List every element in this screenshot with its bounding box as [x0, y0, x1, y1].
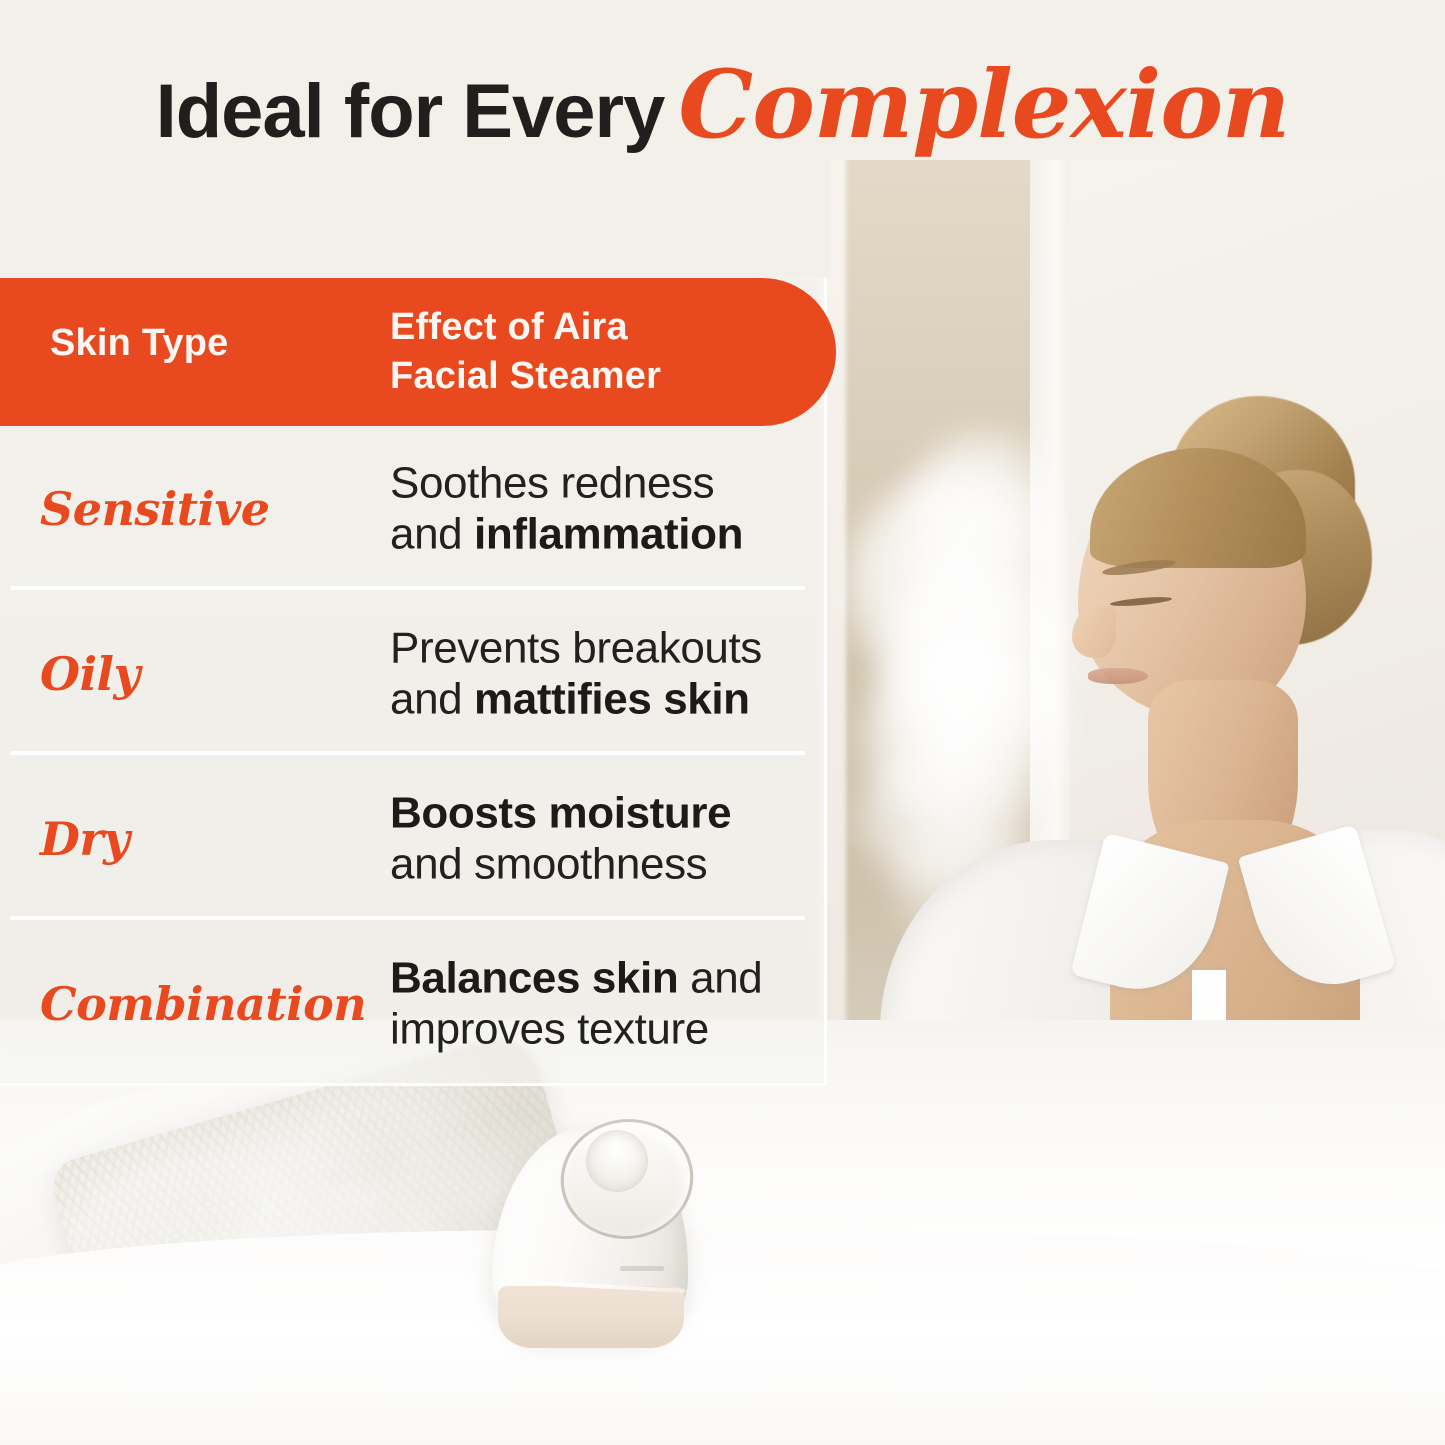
table-row: Sensitive Soothes redness and inflammati… [0, 426, 827, 591]
effect-line2: and smoothness [390, 840, 707, 889]
effect-line2-bold: mattifies skin [474, 675, 750, 724]
page-title: Ideal for EveryComplexion [0, 58, 1445, 152]
table-row: Dry Boosts moisture and smoothness [0, 756, 827, 921]
row-effect-text: Prevents breakouts and mattifies skin [390, 622, 810, 725]
effect-line2-bold: inflammation [474, 510, 743, 559]
effect-line1: Prevents breakouts [390, 623, 762, 672]
row-divider [10, 916, 805, 920]
row-label-skin-type: Sensitive [40, 482, 270, 536]
effect-line1: Soothes redness [390, 458, 714, 507]
table-row: Combination Balances skin and improves t… [0, 921, 827, 1086]
row-divider [10, 751, 805, 755]
row-label-skin-type: Dry [40, 812, 129, 866]
column-header-effect-line2: Facial Steamer [390, 352, 661, 401]
steamer-brand-mark [620, 1266, 664, 1271]
effect-line1-bold: Boosts moisture [390, 788, 731, 837]
infographic-canvas: Ideal for EveryComplexion Skin Type Effe… [0, 0, 1445, 1445]
title-accent-text: Complexion [678, 50, 1289, 160]
row-divider [10, 586, 805, 590]
lips [1088, 668, 1148, 684]
row-effect-text: Soothes redness and inflammation [390, 457, 810, 560]
row-label-skin-type: Combination [40, 977, 366, 1031]
effect-line2: improves texture [390, 1005, 709, 1054]
table-row: Oily Prevents breakouts and mattifies sk… [0, 591, 827, 756]
effect-line1-plain: and [678, 953, 762, 1002]
effect-line2-plain: and [390, 510, 474, 559]
column-header-effect-line1: Effect of Aira [390, 303, 661, 352]
row-effect-text: Balances skin and improves texture [390, 952, 810, 1055]
effect-line1-bold: Balances skin [390, 953, 678, 1002]
effect-line2-plain: and [390, 675, 474, 724]
row-label-skin-type: Oily [40, 647, 140, 701]
facial-steamer-device [478, 1108, 708, 1353]
column-header-skin-type: Skin Type [50, 322, 228, 365]
steamer-base [498, 1286, 684, 1348]
column-header-effect: Effect of Aira Facial Steamer [390, 303, 661, 400]
title-plain-text: Ideal for Every [156, 69, 665, 154]
duvet-foreground [0, 1230, 1445, 1445]
row-effect-text: Boosts moisture and smoothness [390, 787, 810, 890]
